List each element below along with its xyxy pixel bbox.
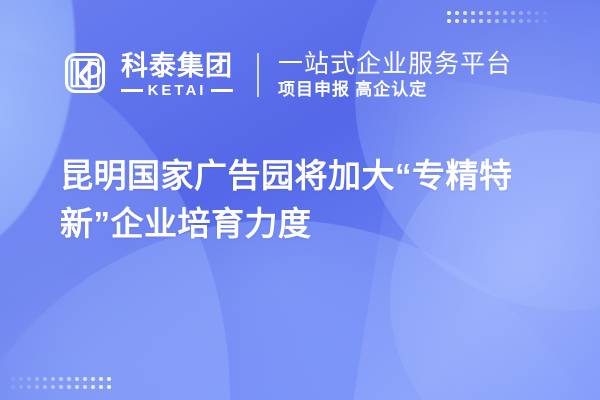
- dot: [519, 11, 523, 15]
- dot: [479, 11, 483, 15]
- wordmark-rule-right: [211, 89, 233, 92]
- dot: [99, 377, 103, 381]
- dot: [519, 19, 523, 23]
- dot: [11, 377, 15, 381]
- dot: [495, 11, 499, 15]
- dot: [19, 377, 23, 381]
- dot: [471, 11, 475, 15]
- dot: [535, 11, 539, 15]
- dot: [479, 19, 483, 23]
- wordmark-rule-left: [121, 89, 143, 92]
- tagline-secondary: 项目申报 高企认定: [278, 81, 512, 100]
- dot: [487, 19, 491, 23]
- dot-grid-row: [11, 377, 111, 381]
- dot: [51, 385, 55, 389]
- dot: [511, 11, 515, 15]
- brand-name-en-row: KETAI: [121, 83, 233, 98]
- dot: [463, 19, 467, 23]
- dot-grid-top-right: [447, 11, 547, 23]
- dot: [35, 377, 39, 381]
- dot: [503, 11, 507, 15]
- header-divider: [257, 53, 259, 97]
- dot: [535, 19, 539, 23]
- brand-name-en: KETAI: [148, 83, 207, 98]
- dot: [19, 385, 23, 389]
- tagline-primary: 一站式企业服务平台: [278, 51, 512, 78]
- dot: [471, 19, 475, 23]
- dot: [67, 385, 71, 389]
- dot: [447, 11, 451, 15]
- dot: [75, 377, 79, 381]
- dot: [51, 377, 55, 381]
- dot: [107, 377, 111, 381]
- dot: [27, 377, 31, 381]
- dot: [59, 377, 63, 381]
- dot: [455, 11, 459, 15]
- dot: [463, 11, 467, 15]
- brand-name-cn: 科泰集团: [121, 53, 233, 80]
- dot: [83, 385, 87, 389]
- dot-grid-bottom-left: [11, 377, 111, 389]
- dot: [67, 377, 71, 381]
- dot: [43, 377, 47, 381]
- dot: [527, 11, 531, 15]
- dot: [91, 377, 95, 381]
- dot: [35, 385, 39, 389]
- dot: [527, 19, 531, 23]
- promo-banner: 科泰集团 KETAI 一站式企业服务平台 项目申报 高企认定 昆明国家广告园将加…: [0, 0, 600, 400]
- dot: [83, 377, 87, 381]
- ketai-diamond-kp-monogram-icon: [58, 46, 112, 105]
- dot-grid-row: [11, 385, 111, 389]
- dot: [43, 385, 47, 389]
- dot: [107, 385, 111, 389]
- dot: [27, 385, 31, 389]
- dot: [511, 19, 515, 23]
- brand-wordmark: 科泰集团 KETAI: [121, 53, 233, 98]
- dot-grid-row: [447, 11, 547, 15]
- banner-header: 科泰集团 KETAI 一站式企业服务平台 项目申报 高企认定: [58, 44, 512, 106]
- dot-grid-row: [447, 19, 547, 23]
- dot: [91, 385, 95, 389]
- dot: [447, 19, 451, 23]
- dot: [495, 19, 499, 23]
- dot: [59, 385, 63, 389]
- dot: [503, 19, 507, 23]
- banner-headline: 昆明国家广告园将加大“专精特新”企业培育力度: [60, 152, 570, 248]
- dot: [455, 19, 459, 23]
- dot: [543, 11, 547, 15]
- dot: [543, 19, 547, 23]
- dot: [99, 385, 103, 389]
- brand-logo-lockup[interactable]: 科泰集团 KETAI: [58, 46, 233, 105]
- dot: [487, 11, 491, 15]
- dot: [75, 385, 79, 389]
- dot: [11, 385, 15, 389]
- tagline-block: 一站式企业服务平台 项目申报 高企认定: [278, 51, 512, 100]
